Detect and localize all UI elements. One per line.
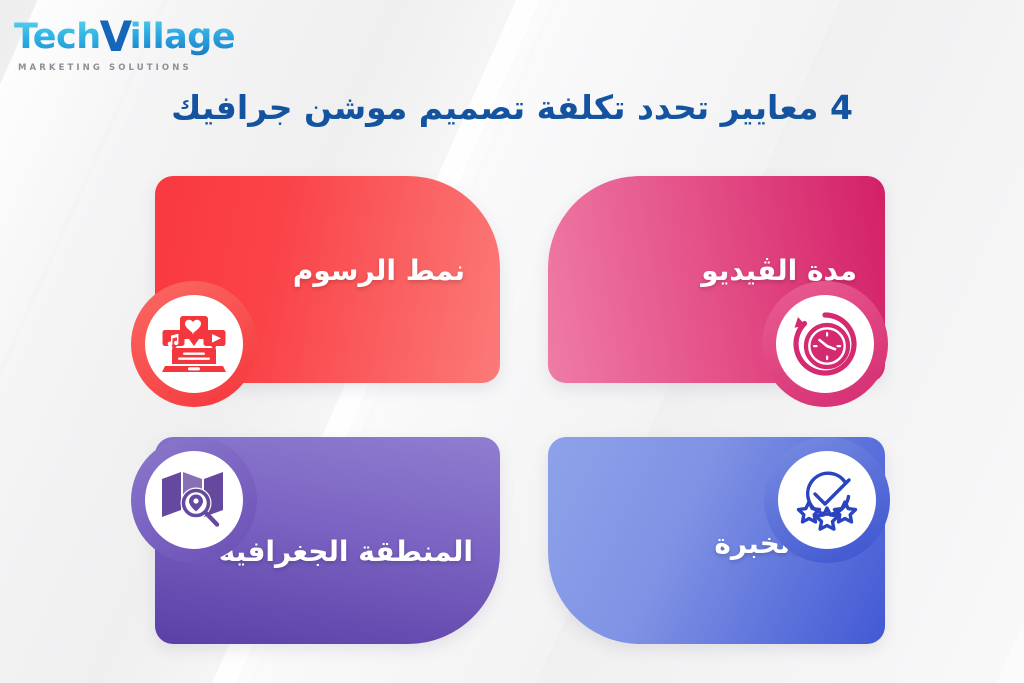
logo-v-mark: V	[100, 16, 132, 58]
badge-inner-circle	[145, 451, 243, 549]
brand-logo: TechVillage MARKETING SOLUTIONS	[14, 16, 204, 73]
infographic-canvas: TechVillage MARKETING SOLUTIONS 4 معايير…	[0, 0, 1024, 683]
page-title: 4 معايير تحدد تكلفة تصميم موشن جرافيك	[0, 88, 1024, 127]
badge-experience	[764, 437, 890, 563]
badge-video-duration	[762, 281, 888, 407]
badge-inner-circle	[778, 451, 876, 549]
badge-inner-circle	[145, 295, 243, 393]
badge-geographic-area	[131, 437, 257, 563]
logo-text-village: illage	[130, 17, 235, 57]
card-label: المنطقة الجغرافية	[219, 535, 473, 568]
logo-tagline: MARKETING SOLUTIONS	[18, 63, 204, 73]
laptop-media-icon	[161, 314, 227, 374]
card-label: نمط الرسوم	[293, 254, 465, 287]
badge-graphics-style	[131, 281, 257, 407]
logo-wordmark: TechVillage	[14, 16, 204, 58]
map-search-icon	[160, 469, 228, 531]
clock-history-icon	[792, 311, 858, 377]
badge-inner-circle	[776, 295, 874, 393]
check-stars-icon	[793, 468, 861, 532]
logo-text-tech: Tech	[14, 17, 101, 57]
